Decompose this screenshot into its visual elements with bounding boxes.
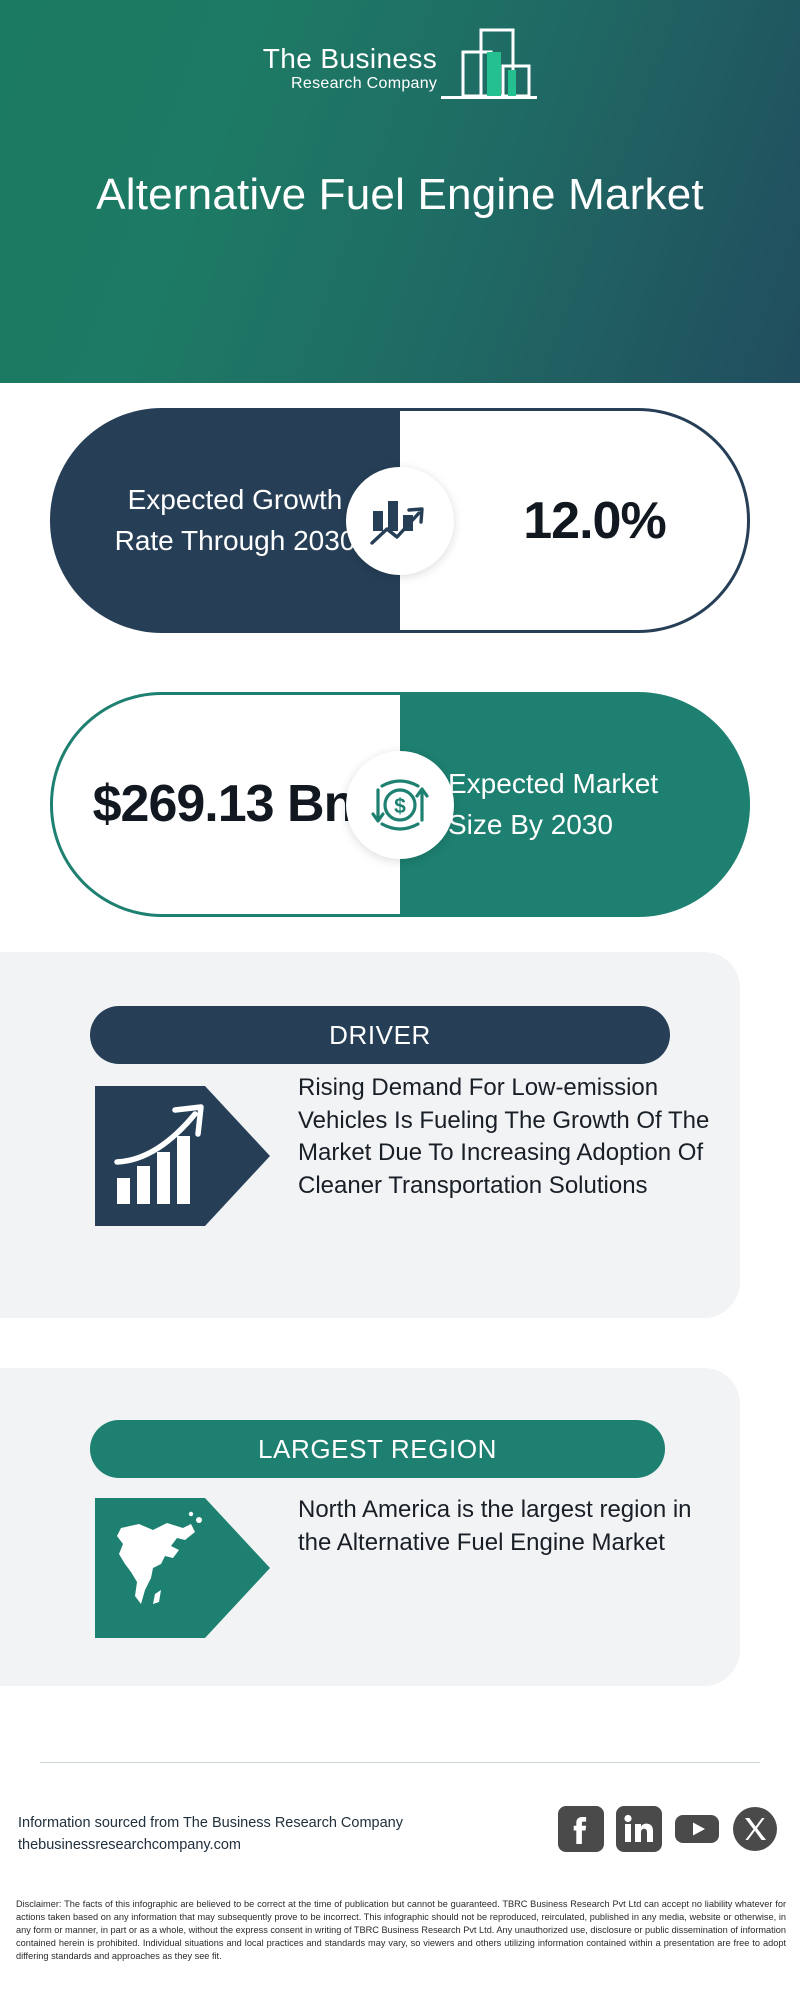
largest-region-heading-label: LARGEST REGION: [258, 1434, 497, 1465]
youtube-icon[interactable]: [674, 1806, 720, 1852]
driver-heading-label: DRIVER: [329, 1020, 431, 1051]
source-credit: Information sourced from The Business Re…: [18, 1812, 403, 1857]
social-links: [558, 1806, 778, 1852]
largest-region-heading-pill: LARGEST REGION: [90, 1420, 665, 1478]
largest-region-body-text: North America is the largest region in t…: [298, 1494, 718, 1559]
x-twitter-icon[interactable]: [732, 1806, 778, 1852]
footer-divider: [40, 1762, 760, 1763]
facebook-icon[interactable]: [558, 1806, 604, 1852]
logo-line-2: Research Company: [263, 74, 437, 94]
driver-heading-pill: DRIVER: [90, 1006, 670, 1064]
driver-body-text: Rising Demand For Low-emission Vehicles …: [298, 1072, 718, 1203]
north-america-map-icon: [95, 1498, 270, 1638]
logo-wordmark: The Business Research Company: [263, 44, 437, 96]
stat-market-size: $269.13 Bn Expected Market Size By 2030 …: [50, 692, 750, 917]
bar-chart-growth-arrow-icon: [95, 1086, 270, 1226]
logo-line-1: The Business: [263, 44, 437, 74]
linkedin-icon[interactable]: [616, 1806, 662, 1852]
page-title: Alternative Fuel Engine Market: [60, 170, 740, 221]
infographic-page: The Business Research Company Alternativ…: [0, 0, 800, 2000]
stat-growth-value: 12.0%: [481, 491, 665, 551]
source-line-1: Information sourced from The Business Re…: [18, 1812, 403, 1834]
company-logo: The Business Research Company: [0, 22, 800, 96]
stat-size-value: $269.13 Bn: [63, 775, 391, 833]
dollar-circular-arrows-icon: $: [346, 751, 454, 859]
disclaimer-text: Disclaimer: The facts of this infographi…: [16, 1898, 786, 1963]
source-line-2[interactable]: thebusinessresearchcompany.com: [18, 1834, 403, 1856]
logo-bar-chart-icon: [441, 22, 537, 100]
header-banner: The Business Research Company Alternativ…: [0, 0, 800, 383]
growth-chart-arrow-icon: [346, 467, 454, 575]
svg-text:$: $: [394, 795, 406, 818]
stat-growth-rate: Expected Growth Rate Through 2030 12.0%: [50, 408, 750, 633]
